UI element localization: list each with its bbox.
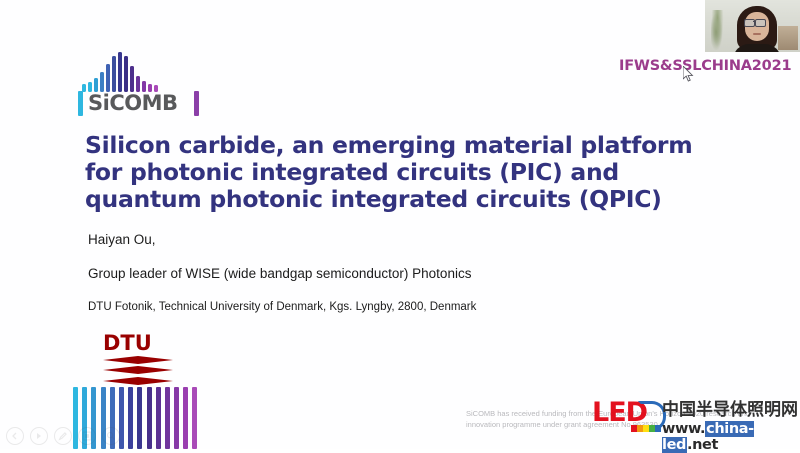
watermark-url-suffix: .net xyxy=(687,437,718,453)
presenter-mouth xyxy=(753,33,761,35)
pen-tool-button[interactable] xyxy=(54,427,72,445)
slide-title-lead: Silicon carbide xyxy=(85,131,276,159)
sicomb-comb-bar xyxy=(100,72,104,92)
footer-bar xyxy=(183,387,188,449)
author-affiliation: DTU Fotonik, Technical University of Den… xyxy=(88,301,476,313)
watermark-url: www.china-led.net xyxy=(662,421,800,453)
presentation-slide: SiCOMB Silicon carbide, an emerging mate… xyxy=(0,0,800,449)
sicomb-wordmark: SiCOMB xyxy=(88,92,178,115)
sicomb-comb-bar xyxy=(124,56,128,92)
sicomb-left-bar-icon xyxy=(78,91,83,116)
sicomb-wordmark-row: SiCOMB xyxy=(76,90,208,118)
sicomb-comb-bar xyxy=(106,64,110,92)
dtu-arrow-icon xyxy=(103,366,173,375)
zoom-tool-button[interactable] xyxy=(102,427,120,445)
author-role: Group leader of WISE (wide bandgap semic… xyxy=(88,266,471,281)
footer-bar xyxy=(156,387,161,449)
conference-label: IFWS&SSLCHINA2021 xyxy=(619,58,791,74)
watermark-chinese-text: 中国半导体照明网 xyxy=(662,400,798,420)
dtu-arrow-icon xyxy=(103,356,173,365)
dtu-wordmark: DTU xyxy=(103,333,175,354)
presenter-glasses-bridge xyxy=(753,21,756,22)
presenter-glasses-right xyxy=(755,19,766,27)
footer-bar xyxy=(165,387,170,449)
webcam-shelf-decor xyxy=(778,26,798,50)
footer-bar xyxy=(147,387,152,449)
author-name: Haiyan Ou, xyxy=(88,232,156,247)
watermark-url-prefix: www. xyxy=(662,421,705,437)
footer-bar xyxy=(128,387,133,449)
dtu-arrow-icon xyxy=(103,377,173,386)
dtu-logo: DTU xyxy=(103,333,175,385)
presenter-webcam-video[interactable] xyxy=(705,0,800,52)
footer-bar xyxy=(174,387,179,449)
footer-bar xyxy=(192,387,197,449)
sicomb-comb-bar xyxy=(118,52,122,92)
sicomb-comb-bars xyxy=(82,52,202,92)
led-swatch xyxy=(655,425,661,432)
next-slide-button[interactable] xyxy=(30,427,48,445)
footer-bar xyxy=(137,387,142,449)
led-color-swatches xyxy=(631,425,661,432)
sicomb-comb-bar xyxy=(112,56,116,92)
sicomb-comb-bar xyxy=(130,66,134,92)
webcam-plant-decor xyxy=(711,10,724,50)
slideshow-controls xyxy=(6,427,120,445)
sicomb-logo: SiCOMB xyxy=(76,52,208,118)
slide-title: Silicon carbide, an emerging material pl… xyxy=(85,132,715,213)
all-slides-button[interactable] xyxy=(78,427,96,445)
webcam-presenter-figure xyxy=(737,6,777,52)
led-watermark: LED 中国半导体照明网 www.china-led.net xyxy=(592,399,800,445)
previous-slide-button[interactable] xyxy=(6,427,24,445)
sicomb-right-bar-icon xyxy=(194,91,199,116)
